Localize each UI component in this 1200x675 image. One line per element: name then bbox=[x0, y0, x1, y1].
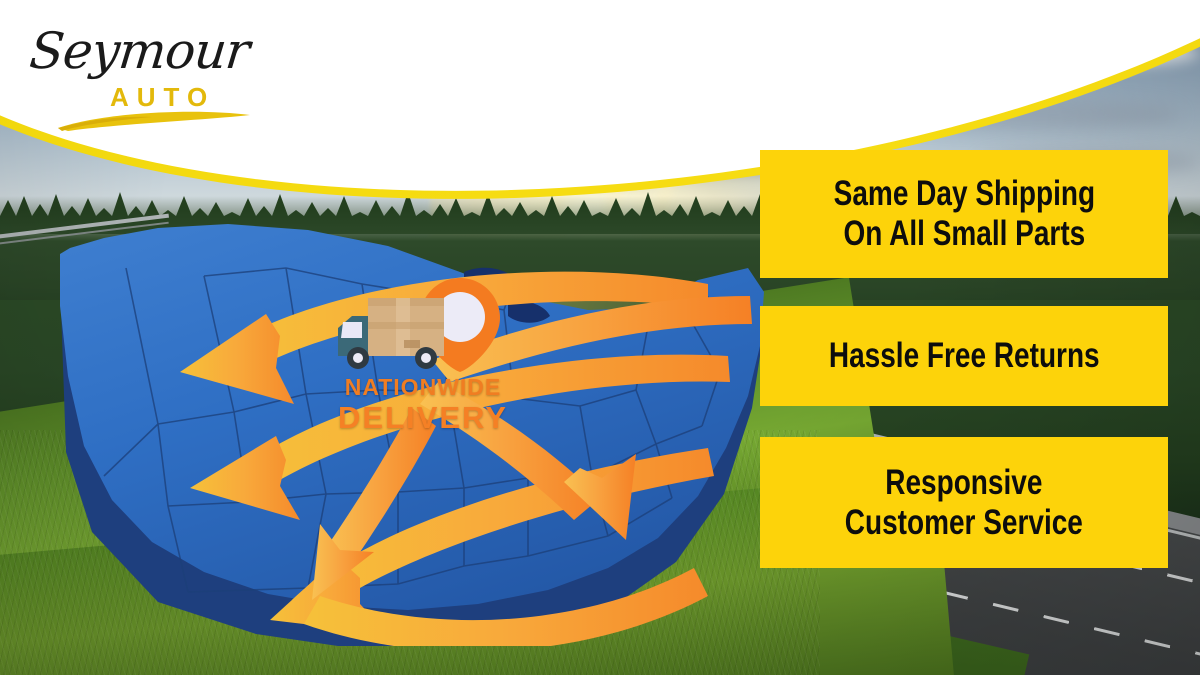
feature-banner-text: Responsive Customer Service bbox=[845, 463, 1083, 543]
feature-banner-text: Same Day Shipping On All Small Parts bbox=[833, 174, 1094, 254]
feature-banner-responsive-customer-service[interactable]: Responsive Customer Service bbox=[760, 437, 1168, 568]
nationwide-delivery-badge: NATIONWIDE DELIVERY bbox=[322, 272, 522, 442]
promo-banner: Seymour AUTO bbox=[0, 0, 1200, 675]
delivery-truck-and-pin-icon bbox=[322, 272, 522, 378]
logo-swoosh-icon bbox=[56, 106, 252, 132]
logo-script-text: Seymour bbox=[27, 22, 252, 80]
badge-caption: NATIONWIDE DELIVERY bbox=[328, 376, 518, 433]
feature-banner-hassle-free-returns[interactable]: Hassle Free Returns bbox=[760, 306, 1168, 406]
badge-line-2: DELIVERY bbox=[328, 402, 518, 433]
feature-banner-same-day-shipping[interactable]: Same Day Shipping On All Small Parts bbox=[760, 150, 1168, 278]
brand-logo[interactable]: Seymour AUTO bbox=[26, 18, 256, 126]
delivery-truck-icon bbox=[338, 298, 444, 369]
feature-banner-text: Hassle Free Returns bbox=[829, 336, 1100, 376]
badge-line-1: NATIONWIDE bbox=[328, 376, 518, 399]
